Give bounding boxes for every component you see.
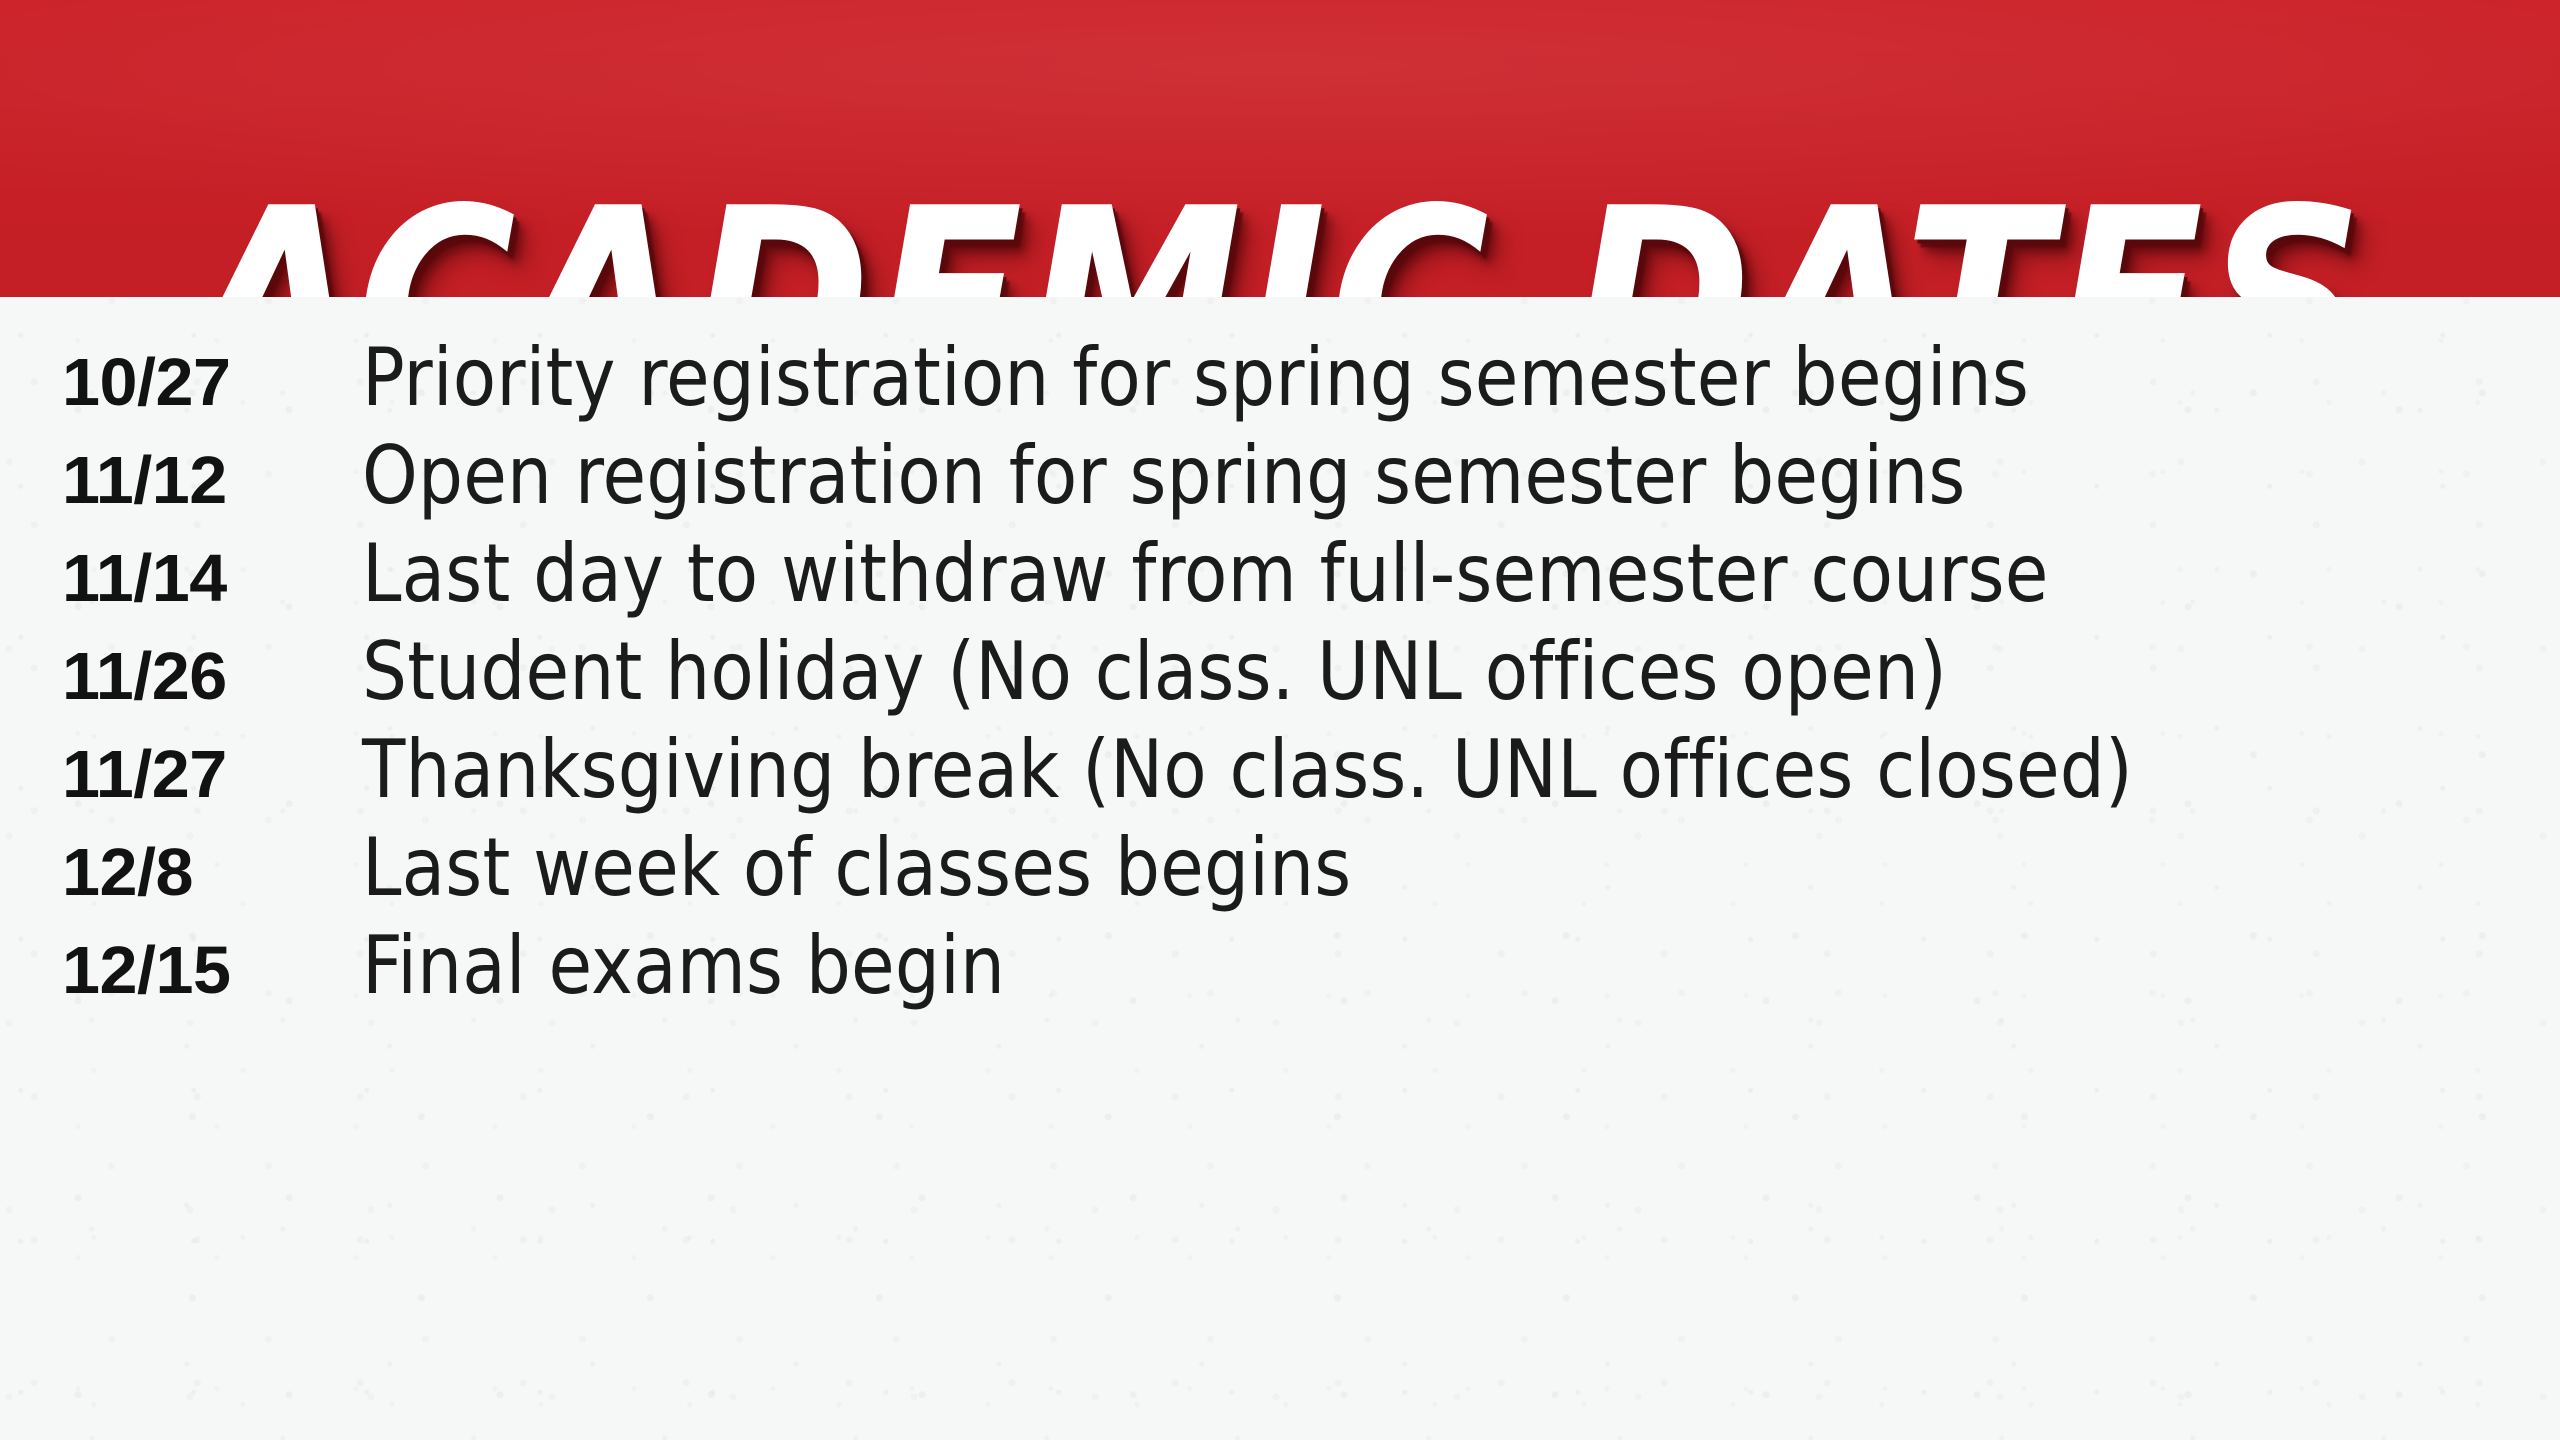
- date-value: 11/27: [62, 741, 368, 808]
- date-value: 11/26: [62, 643, 368, 710]
- date-description: Last day to withdraw from full-semester …: [362, 534, 2470, 614]
- date-row: 12/8 Last week of classes begins: [62, 828, 2502, 926]
- date-description: Student holiday (No class. UNL offices o…: [362, 632, 2470, 712]
- date-row: 11/27 Thanksgiving break (No class. UNL …: [62, 730, 2502, 828]
- date-row: 11/12 Open registration for spring semes…: [62, 436, 2502, 534]
- title-banner: ACADEMIC DATES: [0, 0, 2560, 297]
- date-row: 10/27 Priority registration for spring s…: [62, 338, 2502, 436]
- date-description: Priority registration for spring semeste…: [362, 338, 2470, 418]
- date-row: 12/15 Final exams begin: [62, 926, 2502, 1024]
- date-value: 12/15: [62, 937, 368, 1004]
- date-row: 11/14 Last day to withdraw from full-sem…: [62, 534, 2502, 632]
- date-value: 11/14: [62, 545, 368, 612]
- date-description: Last week of classes begins: [362, 828, 2470, 908]
- date-value: 11/12: [62, 447, 368, 514]
- academic-dates-list: 10/27 Priority registration for spring s…: [62, 338, 2502, 1024]
- date-value: 12/8: [62, 839, 368, 906]
- date-row: 11/26 Student holiday (No class. UNL off…: [62, 632, 2502, 730]
- date-description: Final exams begin: [362, 926, 2470, 1006]
- date-value: 10/27: [62, 349, 368, 416]
- page-title: ACADEMIC DATES: [38, 184, 2521, 297]
- academic-dates-page: ACADEMIC DATES 10/27 Priority registrati…: [0, 0, 2560, 1440]
- date-description: Open registration for spring semester be…: [362, 436, 2470, 516]
- date-description: Thanksgiving break (No class. UNL office…: [362, 730, 2470, 810]
